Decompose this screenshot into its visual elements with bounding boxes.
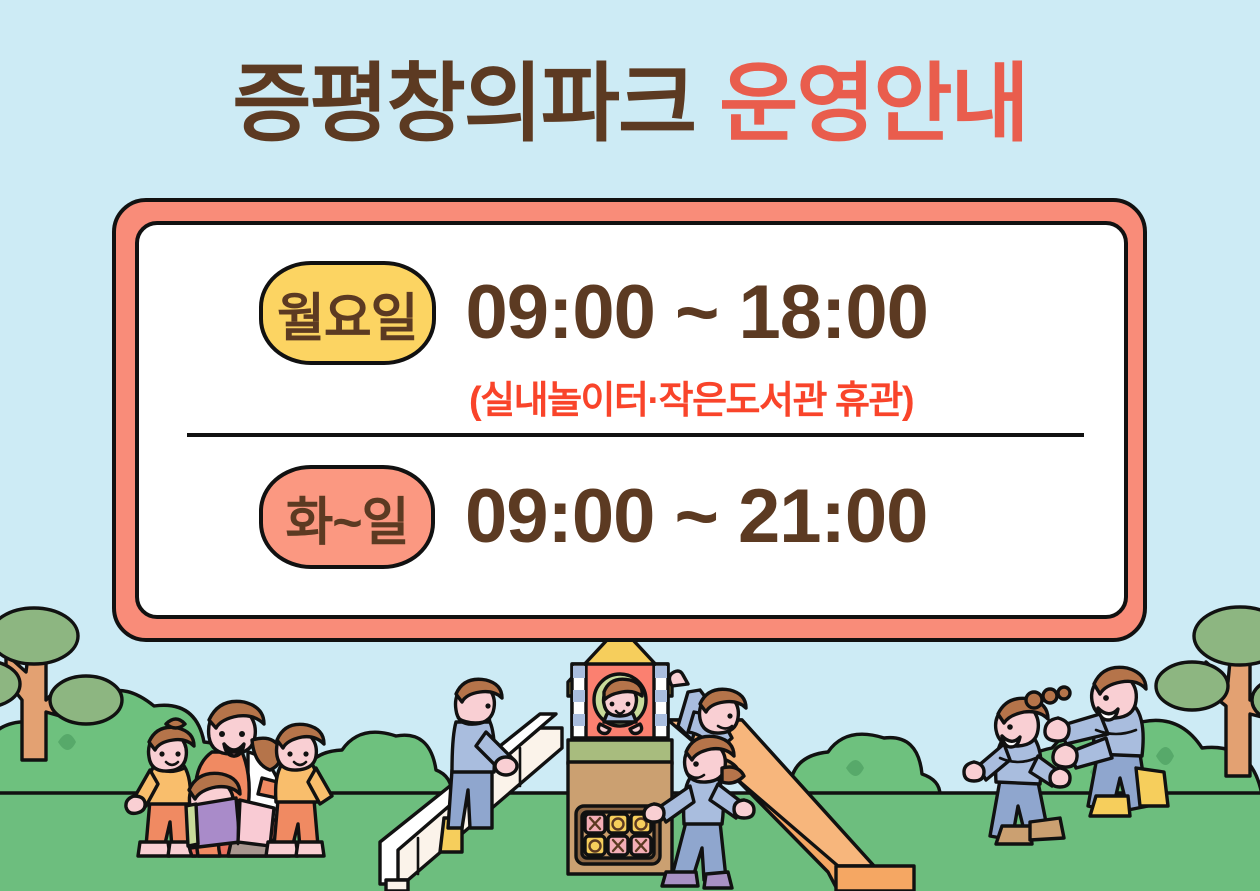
- hours-time-tue-sun: 09:00 ~ 21:00: [465, 479, 927, 555]
- tictactoe-cells: [585, 814, 651, 855]
- poster-title: 증평창의파크 운영안내: [0, 44, 1260, 164]
- title-main: 증평창의파크: [232, 61, 695, 147]
- hours-card: 월요일 09:00 ~ 18:00 (실내놀이터·작은도서관 휴관) 화~일 0…: [112, 198, 1147, 642]
- hours-row-tue-sun: 화~일 09:00 ~ 21:00: [259, 465, 927, 569]
- hours-row-monday: 월요일 09:00 ~ 18:00: [259, 261, 928, 365]
- day-badge-monday: 월요일: [259, 261, 436, 365]
- hours-note-monday: (실내놀이터·작은도서관 휴관): [469, 369, 913, 424]
- poster-root: .ol { stroke:#111; stroke-width:3.4; str…: [0, 0, 1260, 891]
- hours-time-monday: 09:00 ~ 18:00: [466, 275, 928, 351]
- title-subtitle: 운영안내: [719, 61, 1027, 147]
- day-badge-tue-sun: 화~일: [259, 465, 435, 569]
- card-divider: [187, 433, 1084, 437]
- hours-card-inner: 월요일 09:00 ~ 18:00 (실내놀이터·작은도서관 휴관) 화~일 0…: [135, 221, 1128, 619]
- picture-book: [186, 798, 274, 848]
